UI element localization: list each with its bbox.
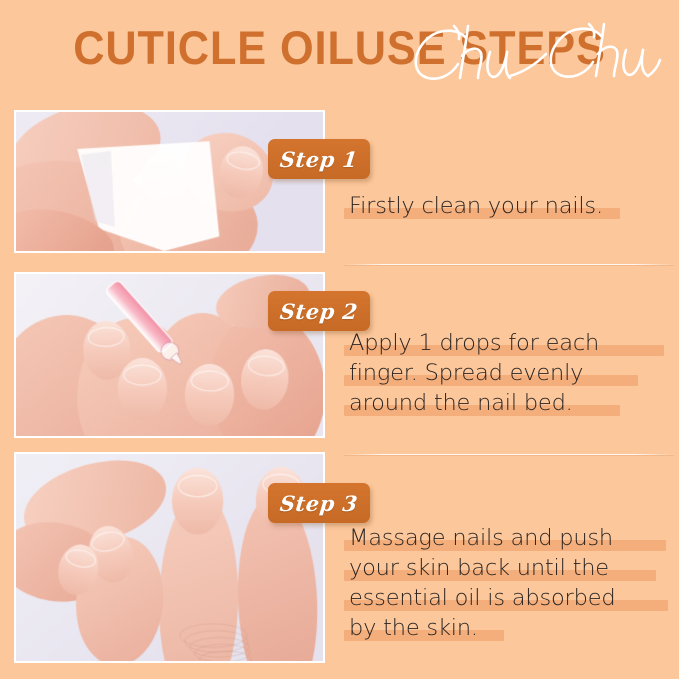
step-text-line: Apply 1 drops for each	[349, 328, 673, 358]
step-text-span: finger. Spread evenly	[349, 360, 583, 386]
step-text-line: by the skin.	[349, 613, 673, 643]
step-text-line: around the nail bed.	[349, 388, 673, 418]
poster-canvas: CUTICLE OILUSE STEPS	[0, 0, 679, 679]
step-badge-label-1: Step 1	[279, 149, 359, 170]
photo-nail-cleaning	[16, 112, 323, 251]
poster-header: CUTICLE OILUSE STEPS	[0, 18, 679, 94]
step-text-span: your skin back until the	[349, 555, 609, 581]
step-badge-1: Step 1	[268, 139, 370, 179]
step-text-line: finger. Spread evenly	[349, 358, 673, 388]
step-badge-label-3: Step 3	[279, 493, 359, 514]
step-badge-label-2: Step 2	[279, 301, 359, 322]
step-description-2: Apply 1 drops for eachfinger. Spread eve…	[349, 328, 673, 418]
step-text-span: Massage nails and push	[349, 525, 613, 551]
step-text-span: Firstly clean your nails.	[349, 193, 603, 219]
step-badge-2: Step 2	[268, 291, 370, 331]
step-row-3: Step 3 Massage nails and pushyour skin b…	[0, 452, 679, 664]
step-row-2: Step 2 Apply 1 drops for eachfinger. Spr…	[0, 272, 679, 444]
step-text-span: Apply 1 drops for each	[349, 330, 599, 356]
step-text-line: essential oil is absorbed	[349, 583, 673, 613]
step-text-span: by the skin.	[349, 615, 478, 641]
step-description-3: Massage nails and pushyour skin back unt…	[349, 523, 673, 643]
step-text-line: Firstly clean your nails.	[349, 191, 673, 221]
step-text-span: essential oil is absorbed	[349, 585, 615, 611]
title-wrap: CUTICLE OILUSE STEPS	[0, 18, 679, 94]
page-title: CUTICLE OILUSE STEPS	[27, 18, 652, 78]
step-text-line: Massage nails and push	[349, 523, 673, 553]
step-photo-1	[14, 110, 325, 253]
step-description-1: Firstly clean your nails.	[349, 191, 673, 221]
step-badge-3: Step 3	[268, 483, 370, 523]
step-text-line: your skin back until the	[349, 553, 673, 583]
step-text-span: around the nail bed.	[349, 390, 573, 416]
step-row-1: Step 1 Firstly clean your nails.	[0, 110, 679, 265]
